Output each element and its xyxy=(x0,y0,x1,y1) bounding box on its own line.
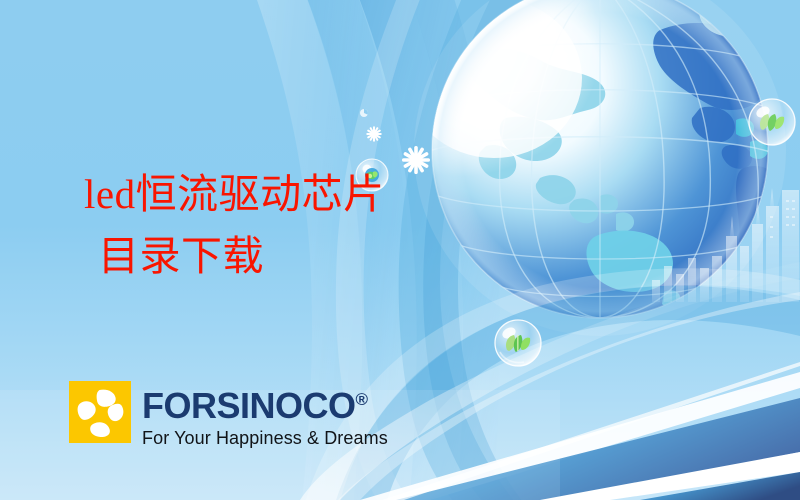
bubble-leaf-icon xyxy=(495,320,541,366)
registered-trademark-symbol: ® xyxy=(356,390,369,409)
headline-block: led恒流驱动芯片 目录下载 xyxy=(84,163,444,287)
logo-wordmark: FORSINOCO® xyxy=(142,382,388,424)
company-logo[interactable]: FORSINOCO® For Your Happiness & Dreams xyxy=(69,381,388,448)
headline-line-1: led恒流驱动芯片 xyxy=(84,163,444,225)
pinwheel-flower-icon xyxy=(69,381,131,443)
promo-banner: led恒流驱动芯片 目录下载 FORSINOCO® xyxy=(0,0,800,500)
logo-wordmark-text: FORSINOCO xyxy=(142,385,356,426)
bubble-leaf-icon xyxy=(749,99,795,145)
logo-tagline: For Your Happiness & Dreams xyxy=(142,428,388,448)
logo-text-block: FORSINOCO® For Your Happiness & Dreams xyxy=(142,381,388,448)
headline-line-2: 目录下载 xyxy=(84,225,444,287)
